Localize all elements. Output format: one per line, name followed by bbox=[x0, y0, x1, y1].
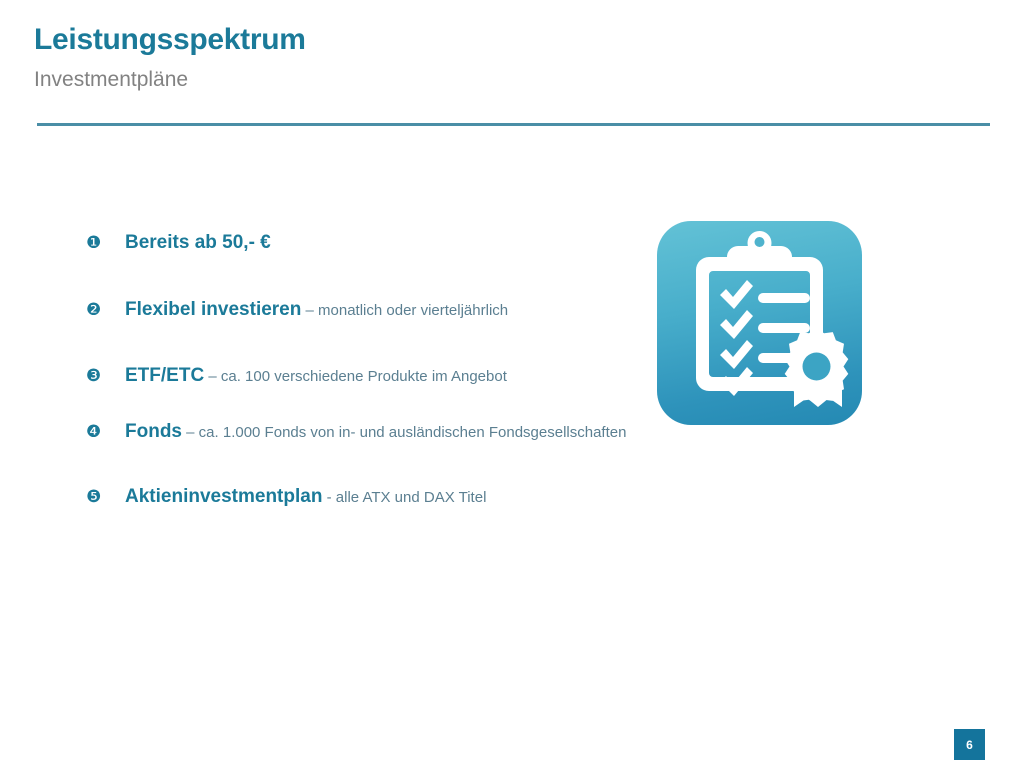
list-item: ❺ Aktieninvestmentplan - alle ATX und DA… bbox=[86, 486, 806, 508]
slide-canvas: Leistungsspektrum Investmentpläne ❶ Bere… bbox=[0, 0, 1024, 768]
list-item-text: Aktieninvestmentplan - alle ATX und DAX … bbox=[125, 486, 806, 508]
numbered-bullet-4-icon: ❹ bbox=[86, 424, 125, 441]
page-subtitle: Investmentpläne bbox=[34, 66, 990, 94]
page-number-badge: 6 bbox=[954, 729, 985, 760]
list-item-detail: – ca. 100 verschiedene Produkte im Angeb… bbox=[204, 368, 507, 385]
numbered-bullet-2-icon: ❷ bbox=[86, 302, 125, 319]
numbered-bullet-3-icon: ❸ bbox=[86, 368, 125, 385]
clipboard-checklist-seal-icon bbox=[657, 221, 862, 425]
list-item-lead: Aktieninvestmentplan bbox=[125, 486, 322, 507]
page-title: Leistungsspektrum bbox=[34, 22, 990, 58]
list-item-detail: - alle ATX und DAX Titel bbox=[322, 489, 486, 506]
list-item-detail: – monatlich oder vierteljährlich bbox=[301, 302, 508, 319]
list-item-lead: Bereits ab 50,- € bbox=[125, 232, 271, 253]
header-divider bbox=[37, 123, 990, 126]
list-item-detail: – ca. 1.000 Fonds von in- und ausländisc… bbox=[182, 424, 626, 441]
numbered-bullet-1-icon: ❶ bbox=[86, 235, 125, 252]
numbered-bullet-5-icon: ❺ bbox=[86, 489, 125, 506]
list-item-lead: ETF/ETC bbox=[125, 365, 204, 386]
list-item-lead: Flexibel investieren bbox=[125, 299, 301, 320]
list-item-lead: Fonds bbox=[125, 421, 182, 442]
slide-header: Leistungsspektrum Investmentpläne bbox=[34, 22, 990, 94]
